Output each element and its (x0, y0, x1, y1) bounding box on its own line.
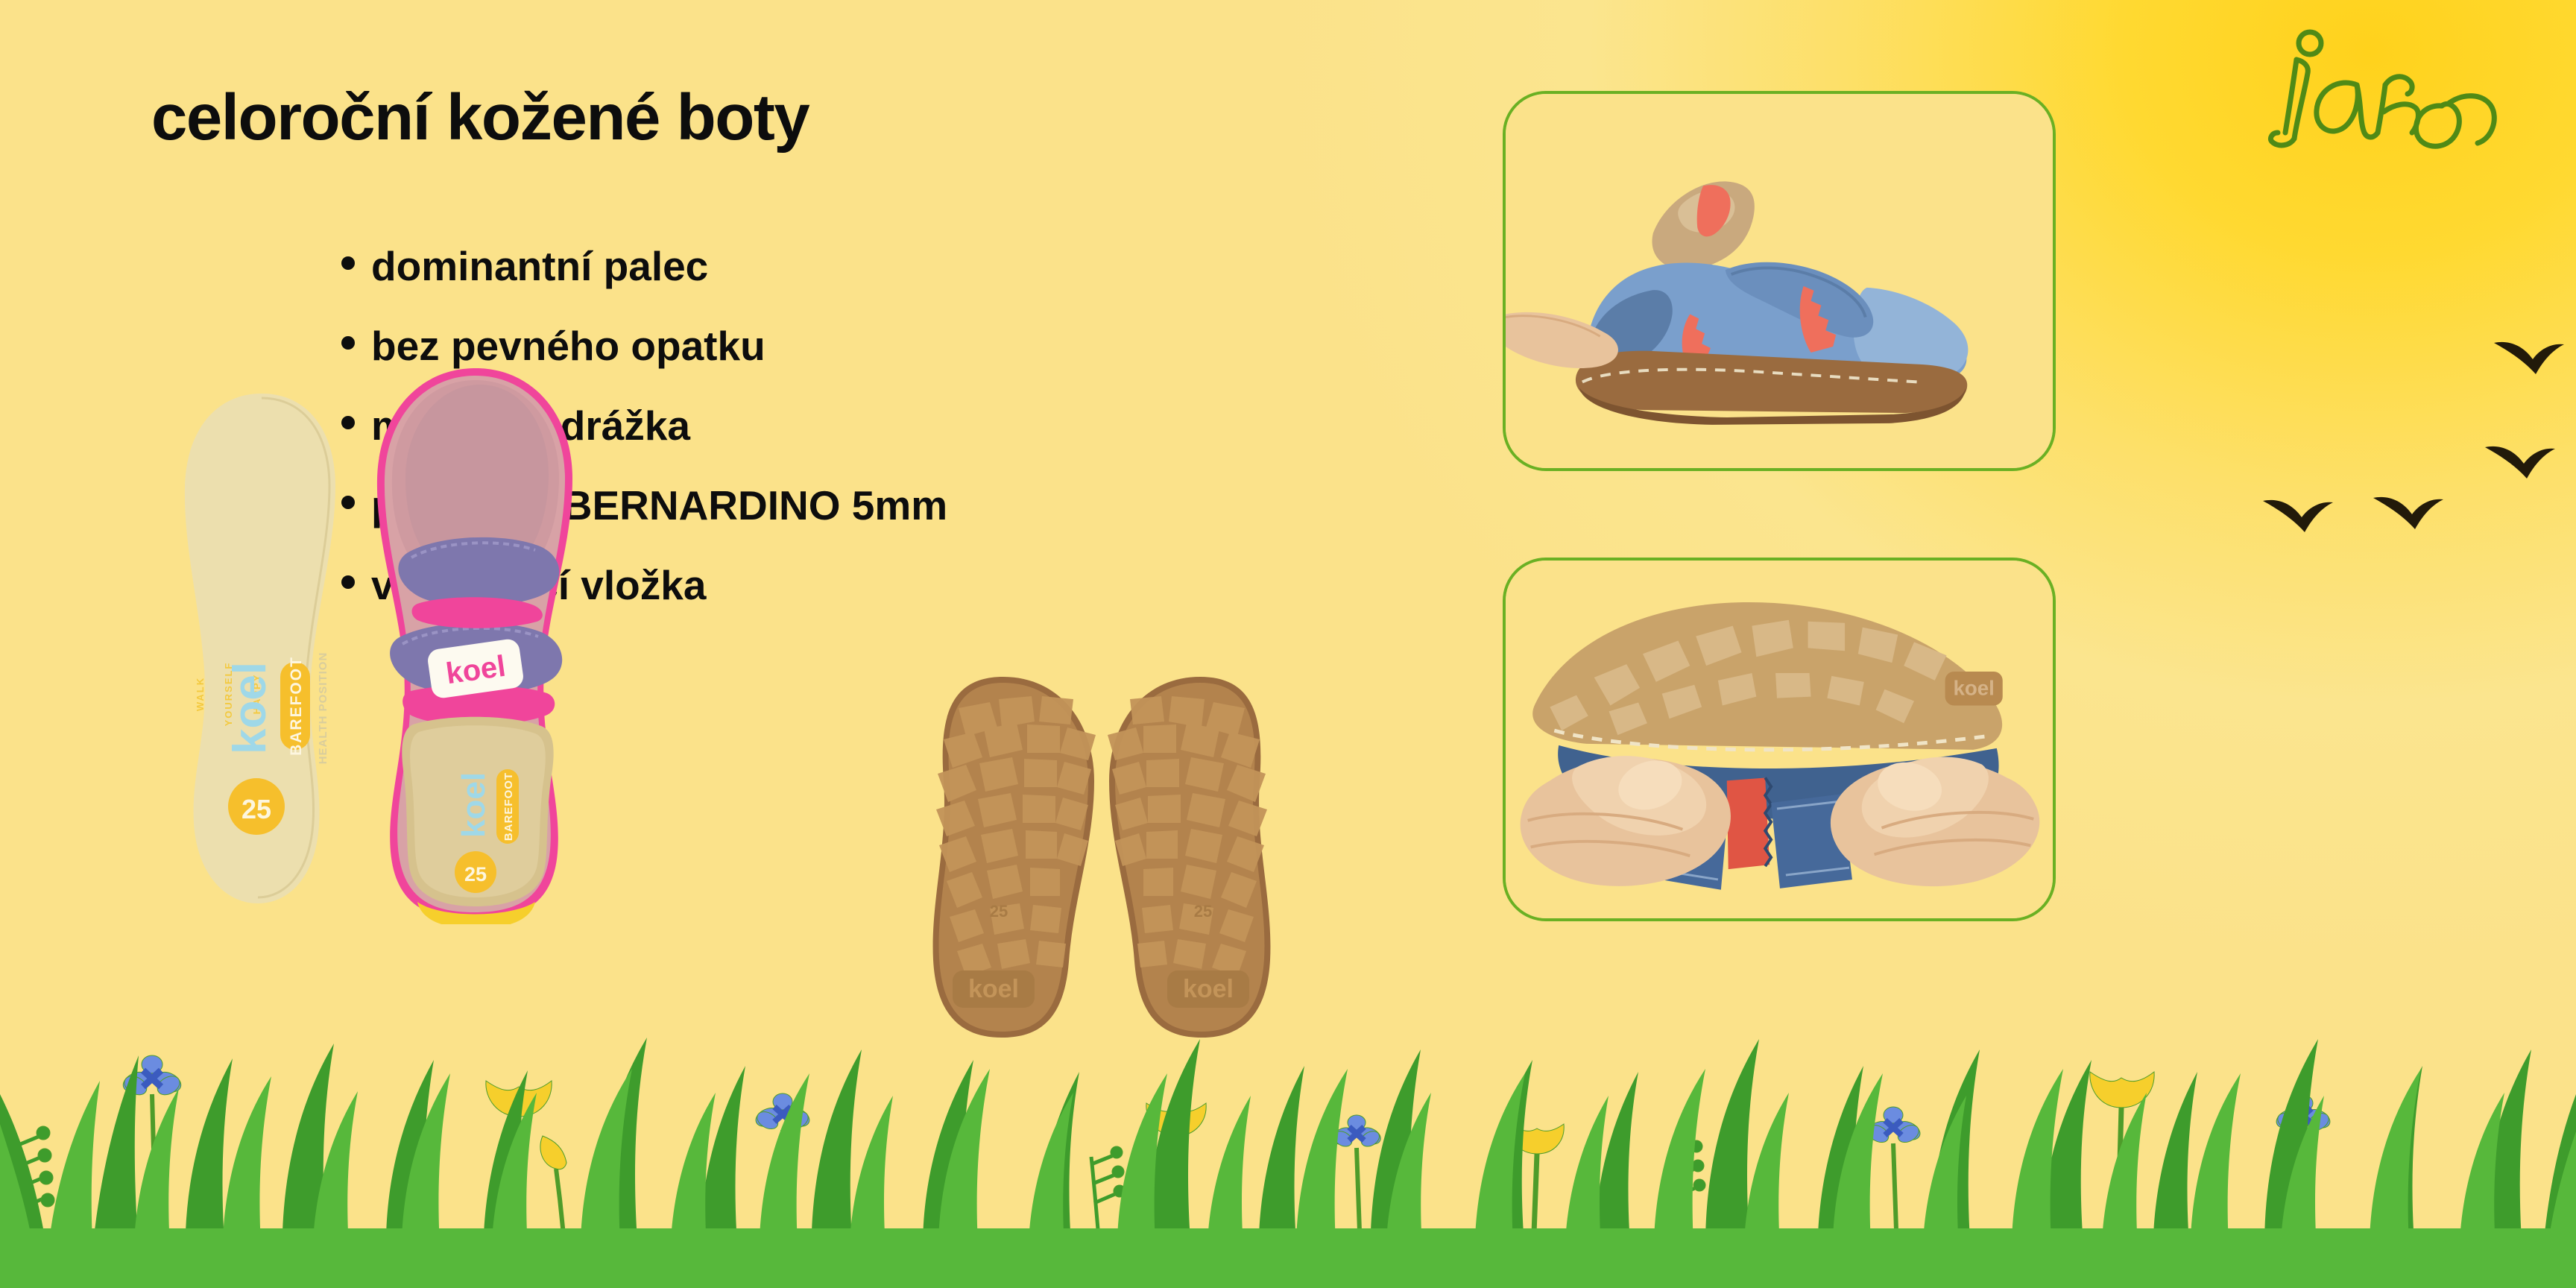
flying-birds-icon (2248, 291, 2569, 544)
page-title: celoroční kožené boty (151, 80, 809, 155)
insole-brand-label: koel (224, 662, 276, 754)
svg-text:HEALTH POSITION: HEALTH POSITION (317, 652, 329, 765)
bullet-dot-icon (341, 336, 355, 350)
product-shoe-top-view: koel koel BAREFOOT 25 (349, 358, 602, 924)
insole-illustration: WALK YOURSELF HAPPY koel BAREFOOT HEALTH… (176, 388, 347, 909)
insole-size-label: 25 (241, 794, 271, 824)
bullet-dot-icon (341, 256, 355, 270)
jaro-script-logo (2226, 13, 2554, 151)
svg-text:BAREFOOT: BAREFOOT (502, 772, 515, 841)
photo-hands-bending-sole: koel (1503, 558, 2056, 921)
grass-illustration (0, 871, 2576, 1288)
photo-illustration (1506, 94, 2053, 468)
product-insole: WALK YOURSELF HAPPY koel BAREFOOT HEALTH… (176, 388, 347, 909)
insole-tagline: WALK (195, 677, 206, 711)
feature-label: dominantní palec (371, 246, 708, 287)
shoe-top-illustration: koel koel BAREFOOT 25 (349, 358, 602, 924)
list-item: dominantní palec (341, 246, 947, 287)
insole-sub-label: BAREFOOT (288, 656, 305, 756)
svg-text:koel: koel (1953, 677, 1994, 700)
photo-illustration: koel (1506, 561, 2053, 918)
grass-decoration (0, 871, 2576, 1288)
footbed-brand-label: koel (455, 772, 492, 838)
promo-banner: celoroční kožené boty dominantní palec b… (0, 0, 2576, 1288)
photo-shoe-held-in-hand (1503, 91, 2056, 471)
